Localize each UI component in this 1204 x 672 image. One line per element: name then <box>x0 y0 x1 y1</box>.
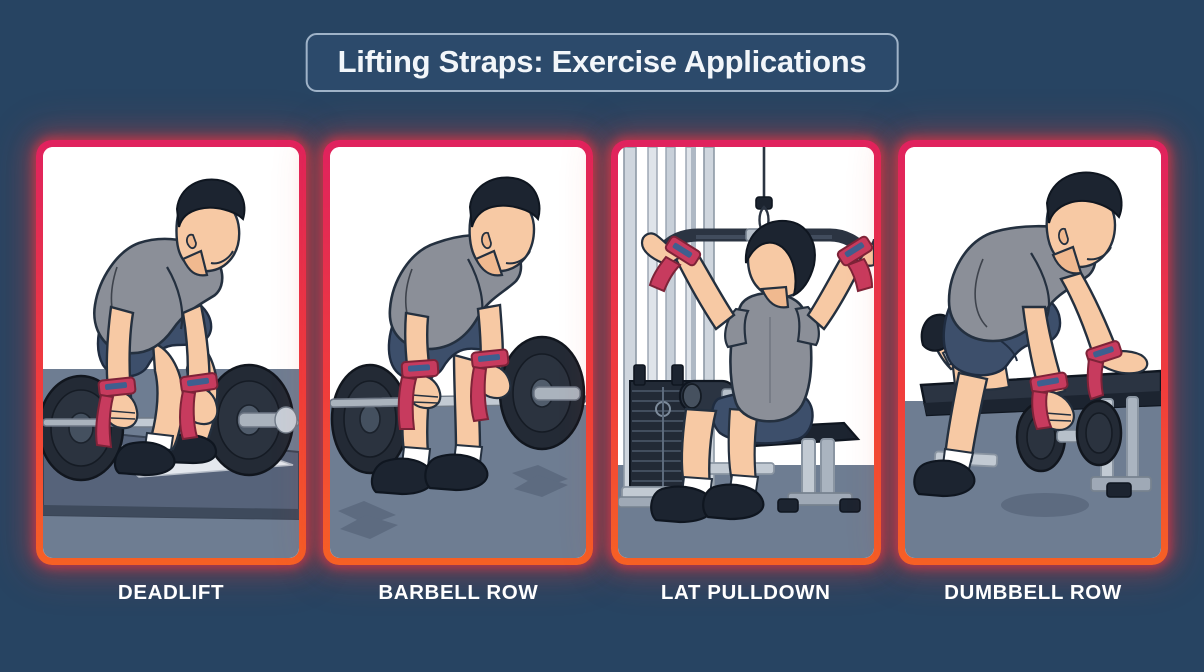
panel-lat-pulldown[interactable] <box>611 140 881 565</box>
label-cell-deadlift: DEADLIFT <box>36 583 306 623</box>
panel-deadlift-inner <box>43 147 299 558</box>
panel-dumbbell-row[interactable] <box>898 140 1168 565</box>
lat-pulldown-illustration <box>618 147 874 558</box>
panel-label-deadlift: DEADLIFT <box>118 581 224 604</box>
panel-deadlift[interactable] <box>36 140 306 565</box>
panel-dumbbell-row-inner <box>905 147 1161 558</box>
panel-barbell-row-inner <box>330 147 586 558</box>
barbell-row-illustration <box>330 147 586 558</box>
title-banner: Lifting Straps: Exercise Applications <box>306 33 899 92</box>
panel-lat-pulldown-inner <box>618 147 874 558</box>
label-cell-dumbbell-row: DUMBBELL ROW <box>898 583 1168 623</box>
panel-label-barbell-row: BARBELL ROW <box>378 581 538 604</box>
infographic-canvas: Lifting Straps: Exercise Applications <box>0 0 1204 672</box>
panel-label-dumbbell-row: DUMBBELL ROW <box>944 581 1122 604</box>
dumbbell-row-illustration <box>905 147 1161 558</box>
deadlift-illustration <box>43 147 299 558</box>
panel-label-lat-pulldown: LAT PULLDOWN <box>661 581 831 604</box>
page-title: Lifting Straps: Exercise Applications <box>338 46 867 77</box>
panel-barbell-row[interactable] <box>323 140 593 565</box>
label-cell-barbell-row: BARBELL ROW <box>323 583 593 623</box>
label-cell-lat-pulldown: LAT PULLDOWN <box>611 583 881 623</box>
label-row: DEADLIFT BARBELL ROW LAT PULLDOWN DUMBBE… <box>36 583 1168 623</box>
panel-row <box>36 140 1168 565</box>
